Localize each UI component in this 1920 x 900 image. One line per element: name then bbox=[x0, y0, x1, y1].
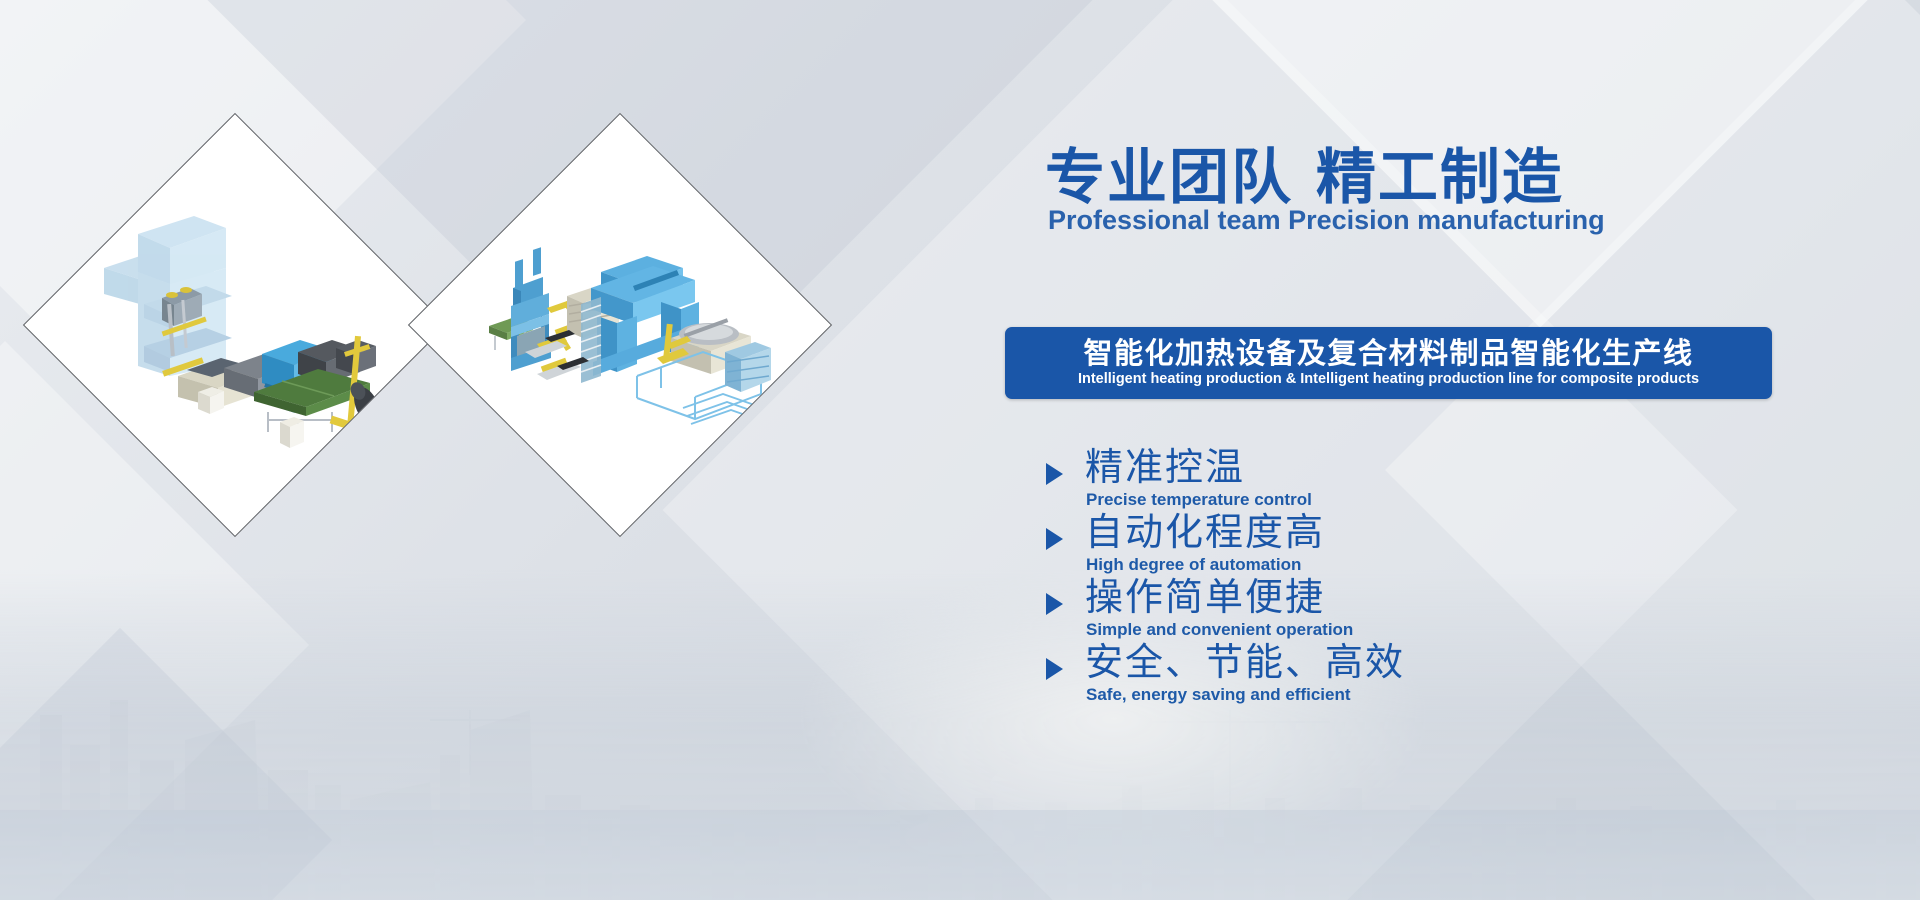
product-title-english: Intelligent heating production & Intelli… bbox=[1078, 371, 1699, 387]
production-line-image-tile-1[interactable] bbox=[23, 113, 447, 537]
product-title-chinese: 智能化加热设备及复合材料制品智能化生产线 bbox=[1083, 338, 1693, 370]
feature-item: 操作简单便捷 Simple and convenient operation bbox=[1040, 578, 1660, 643]
feature-label-english: Safe, energy saving and efficient bbox=[1086, 685, 1351, 705]
banner-stage: 专业团队 精工制造 Professional team Precision ma… bbox=[0, 0, 1920, 900]
feature-item: 安全、节能、高效 Safe, energy saving and efficie… bbox=[1040, 643, 1660, 708]
triangle-right-icon bbox=[1046, 463, 1063, 485]
feature-label-english: High degree of automation bbox=[1086, 555, 1301, 575]
machinery-render-1 bbox=[86, 176, 386, 476]
feature-label-chinese: 精准控温 bbox=[1085, 444, 1245, 492]
triangle-right-icon bbox=[1046, 528, 1063, 550]
feature-label-english: Precise temperature control bbox=[1086, 490, 1312, 510]
product-title-bar: 智能化加热设备及复合材料制品智能化生产线 Intelligent heating… bbox=[1005, 327, 1772, 399]
production-line-image-tile-2[interactable] bbox=[408, 113, 832, 537]
triangle-right-icon bbox=[1046, 593, 1063, 615]
tile-inner bbox=[86, 176, 384, 474]
feature-item: 自动化程度高 High degree of automation bbox=[1040, 513, 1660, 578]
feature-label-chinese: 安全、节能、高效 bbox=[1085, 639, 1405, 687]
feature-label-chinese: 操作简单便捷 bbox=[1085, 574, 1325, 622]
machinery-render-2 bbox=[471, 176, 771, 476]
feature-label-english: Simple and convenient operation bbox=[1086, 620, 1353, 640]
feature-label-chinese: 自动化程度高 bbox=[1085, 509, 1325, 557]
tile-inner bbox=[471, 176, 769, 474]
feature-list: 精准控温 Precise temperature control 自动化程度高 … bbox=[1040, 448, 1660, 708]
banner-content: 专业团队 精工制造 Professional team Precision ma… bbox=[1040, 0, 1800, 900]
headline-english: Professional team Precision manufacturin… bbox=[1048, 206, 1605, 236]
feature-item: 精准控温 Precise temperature control bbox=[1040, 448, 1660, 513]
triangle-right-icon bbox=[1046, 658, 1063, 680]
headline-chinese: 专业团队 精工制造 bbox=[1045, 148, 1564, 208]
